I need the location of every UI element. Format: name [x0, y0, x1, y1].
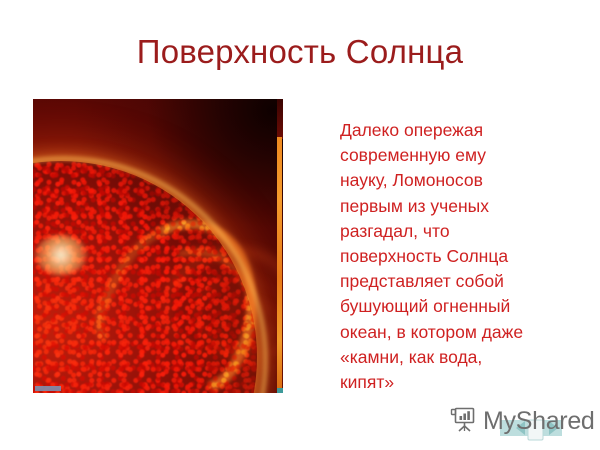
watermark-label: MyShared [483, 407, 595, 435]
photo-corner-marker [277, 388, 283, 393]
body-text-line: бушующий огненный [340, 294, 584, 319]
photo-edge-dark [277, 99, 283, 139]
body-text-line: поверхность Солнца [340, 244, 584, 269]
myshared-watermark: MyShared [450, 400, 590, 442]
body-text-line: Далеко опережая [340, 118, 584, 143]
body-text-line: первым из ученых [340, 194, 584, 219]
body-text-line: кипят» [340, 370, 584, 395]
watermark-text-wrap: MyShared [483, 406, 595, 436]
photo-edge-strip [277, 137, 282, 392]
presentation-slide: Поверхность Солнца Далеко опережая совре… [0, 0, 600, 450]
page-title: Поверхность Солнца [0, 32, 600, 72]
body-text-line: океан, в котором даже [340, 320, 584, 345]
presentation-chart-icon [450, 405, 478, 438]
body-text-line: науку, Ломоносов [340, 168, 584, 193]
body-text: Далеко опережая современную ему науку, Л… [340, 118, 584, 395]
body-text-line: современную ему [340, 143, 584, 168]
solar-bright-region [35, 235, 87, 275]
body-text-line: разгадал, что [340, 219, 584, 244]
body-text-line: «камни, как вода, [340, 345, 584, 370]
photo-caption-mark [35, 386, 61, 391]
sun-surface-photo [33, 99, 283, 393]
body-text-line: представляет собой [340, 269, 584, 294]
